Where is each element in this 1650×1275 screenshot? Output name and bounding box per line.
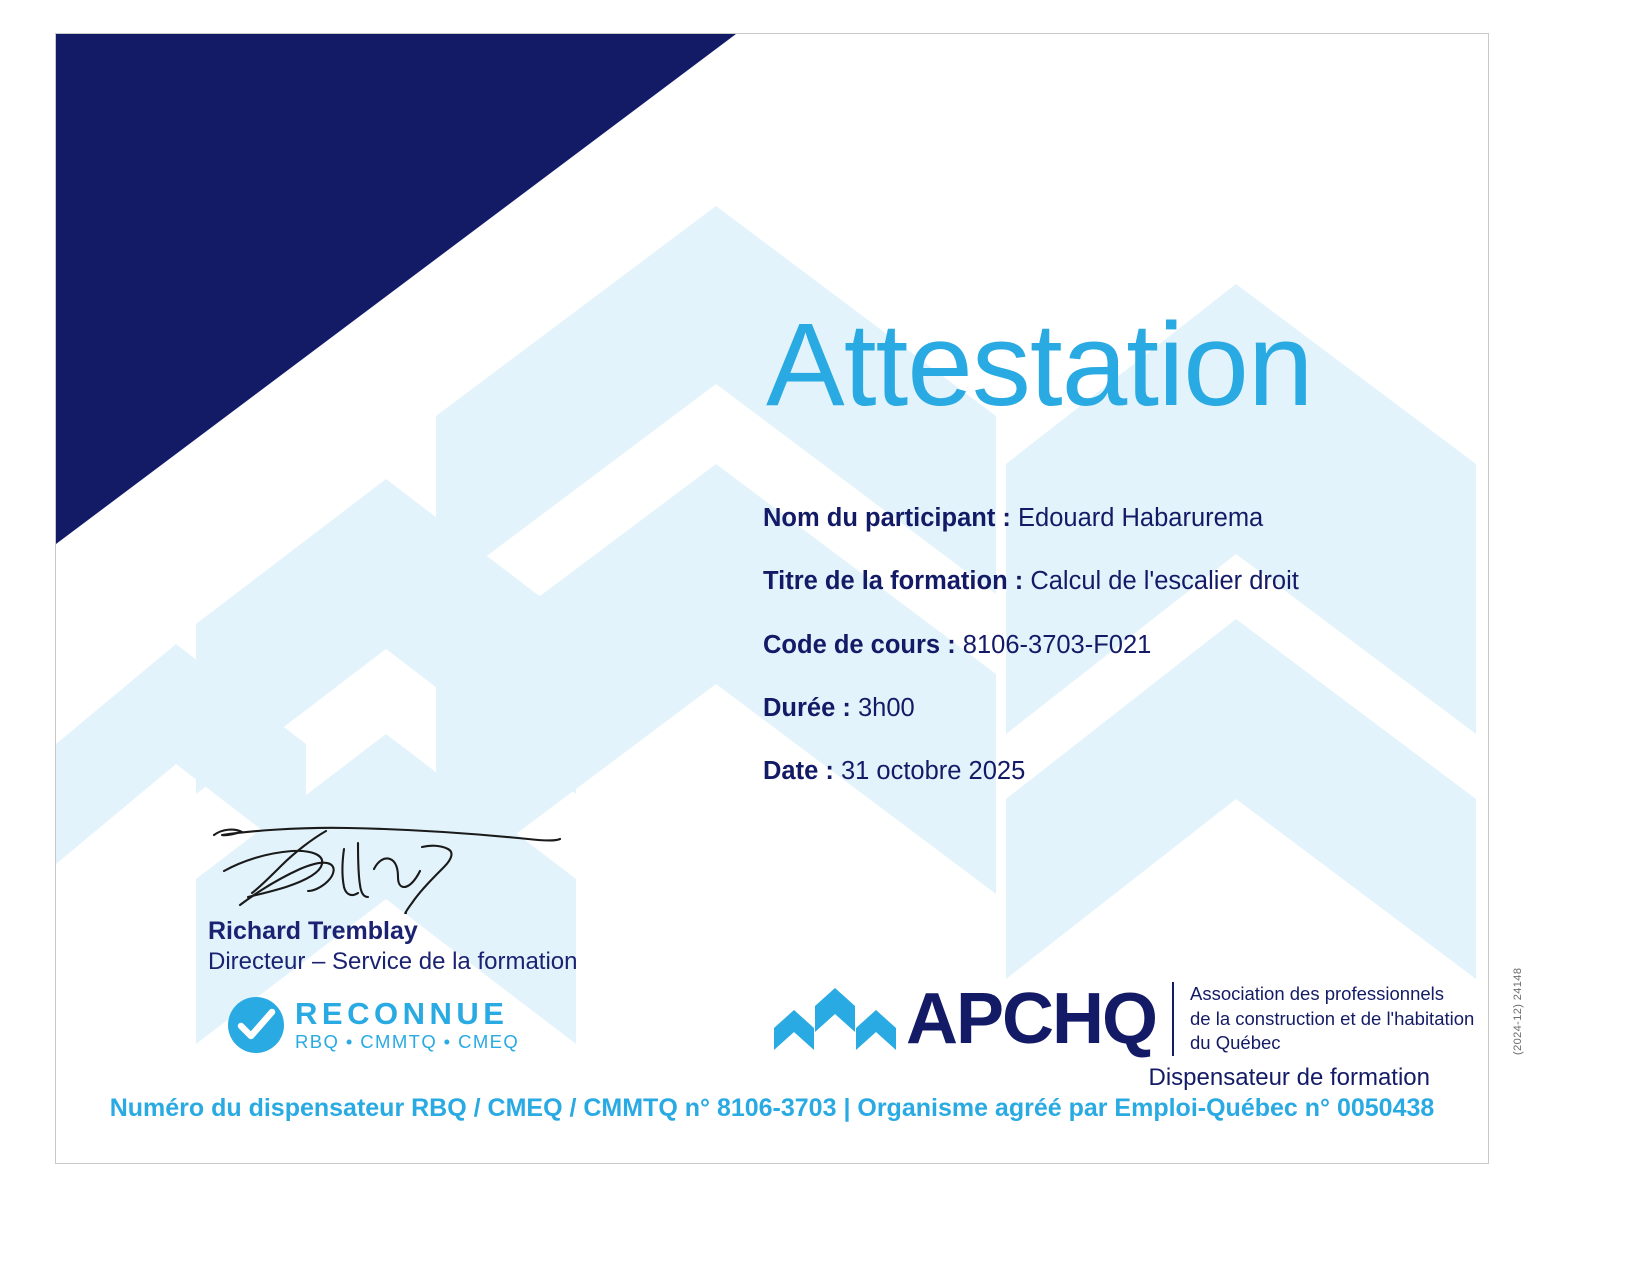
document-revision-code: (2024-12) 24148 — [1512, 968, 1524, 1055]
detail-label: Durée : — [763, 694, 851, 722]
certificate-sheet: Attestation Nom du participant : Edouard… — [55, 33, 1489, 1164]
detail-value: 3h00 — [858, 694, 915, 722]
apchq-tagline-line-2: de la construction et de l'habitation — [1190, 1007, 1474, 1031]
detail-label: Titre de la formation : — [763, 567, 1023, 595]
apchq-logo: APCHQ Association des professionnels de … — [774, 982, 1474, 1056]
detail-row-training-title: Titre de la formation : Calcul de l'esca… — [763, 567, 1463, 596]
detail-value: Edouard Habarurema — [1018, 504, 1263, 532]
reconnue-text: RECONNUE RBQ • CMMTQ • CMEQ — [295, 998, 519, 1052]
apchq-tagline-line-1: Association des professionnels — [1190, 982, 1474, 1006]
reconnue-subtitle: RBQ • CMMTQ • CMEQ — [295, 1032, 519, 1052]
reconnue-title: RECONNUE — [295, 998, 519, 1030]
footer-accreditation-line: Numéro du dispensateur RBQ / CMEQ / CMMT… — [56, 1094, 1488, 1123]
detail-row-participant-name: Nom du participant : Edouard Habarurema — [763, 504, 1463, 533]
check-circle-icon — [228, 997, 284, 1053]
apchq-tagline-line-3: du Québec — [1190, 1031, 1474, 1055]
signer-name: Richard Tremblay — [208, 916, 678, 946]
page-title: Attestation — [766, 306, 1313, 424]
detail-row-date: Date : 31 octobre 2025 — [763, 757, 1463, 786]
signer-title: Directeur – Service de la formation — [208, 947, 678, 977]
signature-block: Richard Tremblay Directeur – Service de … — [208, 809, 678, 977]
handwritten-signature-icon — [208, 809, 568, 914]
detail-label: Code de cours : — [763, 631, 956, 659]
chevron-trio-logo-icon — [774, 988, 896, 1050]
navy-corner-triangle — [56, 34, 736, 544]
detail-value: 31 octobre 2025 — [841, 757, 1025, 785]
apchq-tagline: Association des professionnels de la con… — [1190, 982, 1474, 1055]
detail-row-duration: Durée : 3h00 — [763, 694, 1463, 723]
certificate-details: Nom du participant : Edouard Habarurema … — [763, 504, 1463, 821]
apchq-wordmark: APCHQ — [906, 983, 1156, 1055]
detail-label: Nom du participant : — [763, 504, 1011, 532]
detail-value: 8106-3703-F021 — [963, 631, 1152, 659]
detail-value: Calcul de l'escalier droit — [1030, 567, 1299, 595]
logo-divider — [1172, 982, 1174, 1056]
detail-row-course-code: Code de cours : 8106-3703-F021 — [763, 631, 1463, 660]
detail-label: Date : — [763, 757, 834, 785]
dispensateur-caption: Dispensateur de formation — [1149, 1064, 1430, 1092]
reconnue-badge: RECONNUE RBQ • CMMTQ • CMEQ — [228, 997, 519, 1053]
